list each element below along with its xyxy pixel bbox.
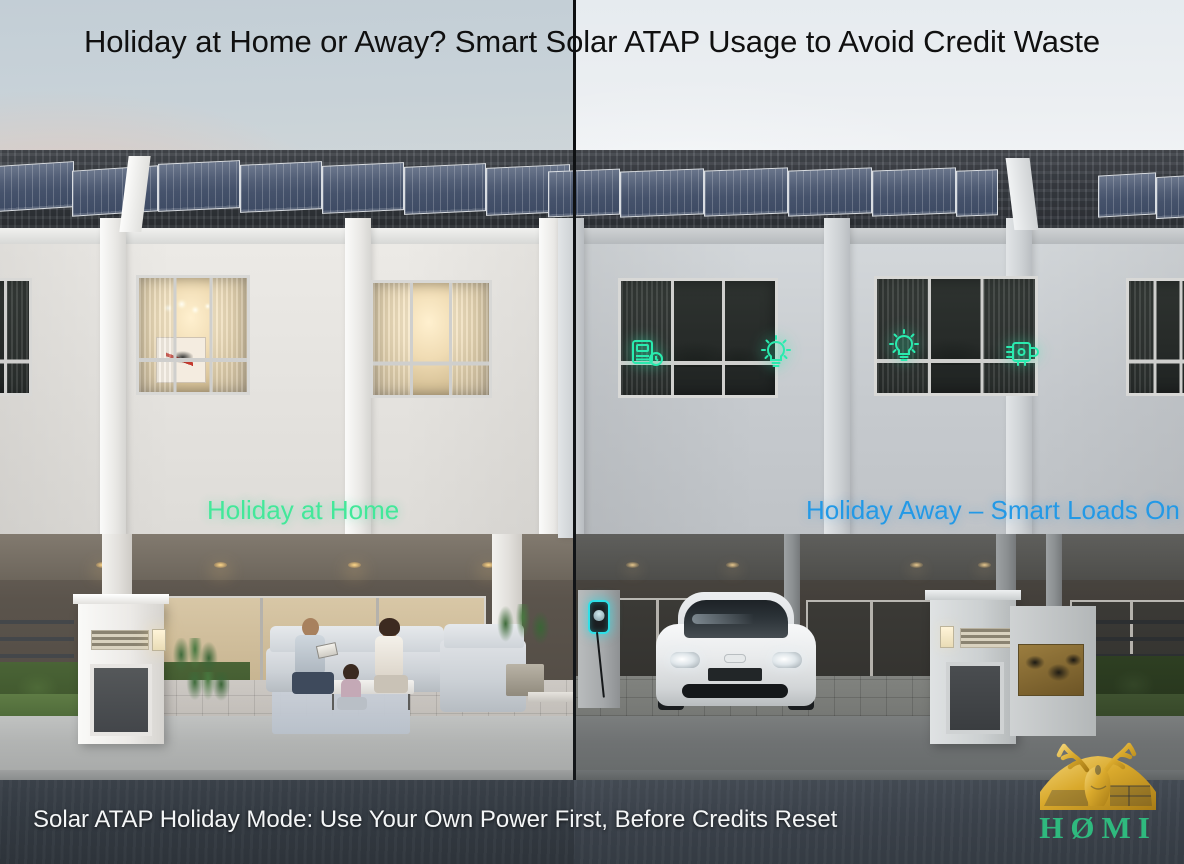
headlight — [772, 652, 802, 668]
split-divider — [573, 0, 576, 780]
gate-pillar-left — [78, 602, 164, 744]
downlight — [978, 562, 991, 568]
downlight — [726, 562, 739, 568]
ev-charger-glyph — [594, 610, 605, 621]
solar-panel — [1098, 172, 1156, 217]
headlight — [670, 652, 700, 668]
solar-panel — [548, 169, 620, 218]
solar-panel — [240, 161, 322, 213]
upper-window-left-2 — [370, 280, 492, 398]
page-title: Holiday at Home or Away? Smart Solar ATA… — [0, 24, 1184, 60]
upper-window-right-edge — [1126, 278, 1184, 396]
stag-house-icon — [1030, 740, 1166, 814]
torso — [341, 679, 361, 699]
torso — [375, 636, 403, 676]
electric-car — [648, 588, 824, 710]
legs — [374, 675, 408, 693]
pilaster — [100, 218, 126, 538]
legs — [292, 672, 334, 694]
window-mullions — [621, 281, 775, 395]
wall-light — [152, 629, 166, 651]
plug-icon — [1004, 338, 1042, 366]
solar-panel — [404, 163, 486, 215]
pilaster — [824, 218, 850, 538]
upper-window-left-1 — [136, 275, 250, 395]
solar-panel — [620, 168, 704, 217]
light-bulb-icon — [888, 328, 920, 362]
eave-left — [0, 228, 574, 244]
solar-panel — [0, 161, 74, 213]
gate-pillar-right — [930, 598, 1016, 744]
mailbox-slot — [91, 630, 149, 650]
homi-wordmark: HØMI — [1030, 810, 1166, 846]
potted-palm — [494, 604, 552, 670]
label-holiday-away: Holiday Away – Smart Loads On — [806, 495, 1180, 526]
gate-panel — [90, 664, 152, 736]
solar-panel — [788, 167, 872, 216]
homi-logo: HØMI — [1030, 740, 1166, 852]
solar-panel — [158, 160, 240, 212]
porch-ceiling — [0, 534, 574, 580]
appliance-icon — [631, 339, 665, 371]
side-table — [528, 692, 576, 702]
window-mullions — [139, 278, 247, 392]
downlight — [626, 562, 639, 568]
downlight — [348, 562, 361, 568]
wall-light — [940, 626, 954, 648]
window-mullions — [0, 281, 29, 393]
solar-panel — [872, 167, 956, 216]
person-adult-female — [372, 620, 412, 696]
light-bulb-icon — [760, 334, 792, 368]
car-emblem — [724, 654, 746, 663]
downlight — [910, 562, 923, 568]
front-grille — [682, 684, 788, 698]
hair — [379, 618, 400, 636]
ev-charger[interactable] — [588, 600, 610, 634]
window-mullions — [1129, 281, 1184, 393]
porch-ceiling — [574, 534, 1184, 580]
book — [316, 642, 338, 659]
flower-bed — [186, 672, 230, 706]
gate-panel — [946, 662, 1004, 734]
legs — [337, 697, 367, 710]
decorative-stone-panel — [1018, 644, 1084, 696]
person-adult-male — [292, 618, 336, 702]
label-holiday-at-home: Holiday at Home — [207, 495, 399, 526]
license-plate — [708, 668, 762, 681]
solar-panel — [1156, 175, 1184, 219]
poster-canvas: Holiday at Home or Away? Smart Solar ATA… — [0, 0, 1184, 864]
footer-caption: Solar ATAP Holiday Mode: Use Your Own Po… — [33, 806, 837, 834]
window-mullions — [373, 283, 489, 395]
downlight — [214, 562, 227, 568]
pilaster — [558, 218, 584, 538]
person-toddler — [336, 664, 368, 712]
solar-panel — [956, 169, 998, 217]
eave-right — [574, 228, 1184, 244]
upper-window-right-1 — [618, 278, 778, 398]
solar-panel — [704, 167, 788, 216]
pillar-cap — [925, 590, 1021, 600]
pillar-cap — [73, 594, 169, 604]
solar-panel — [322, 162, 404, 214]
windshield — [684, 600, 788, 638]
pilaster — [345, 218, 371, 538]
upper-window-left-edge — [0, 278, 32, 396]
